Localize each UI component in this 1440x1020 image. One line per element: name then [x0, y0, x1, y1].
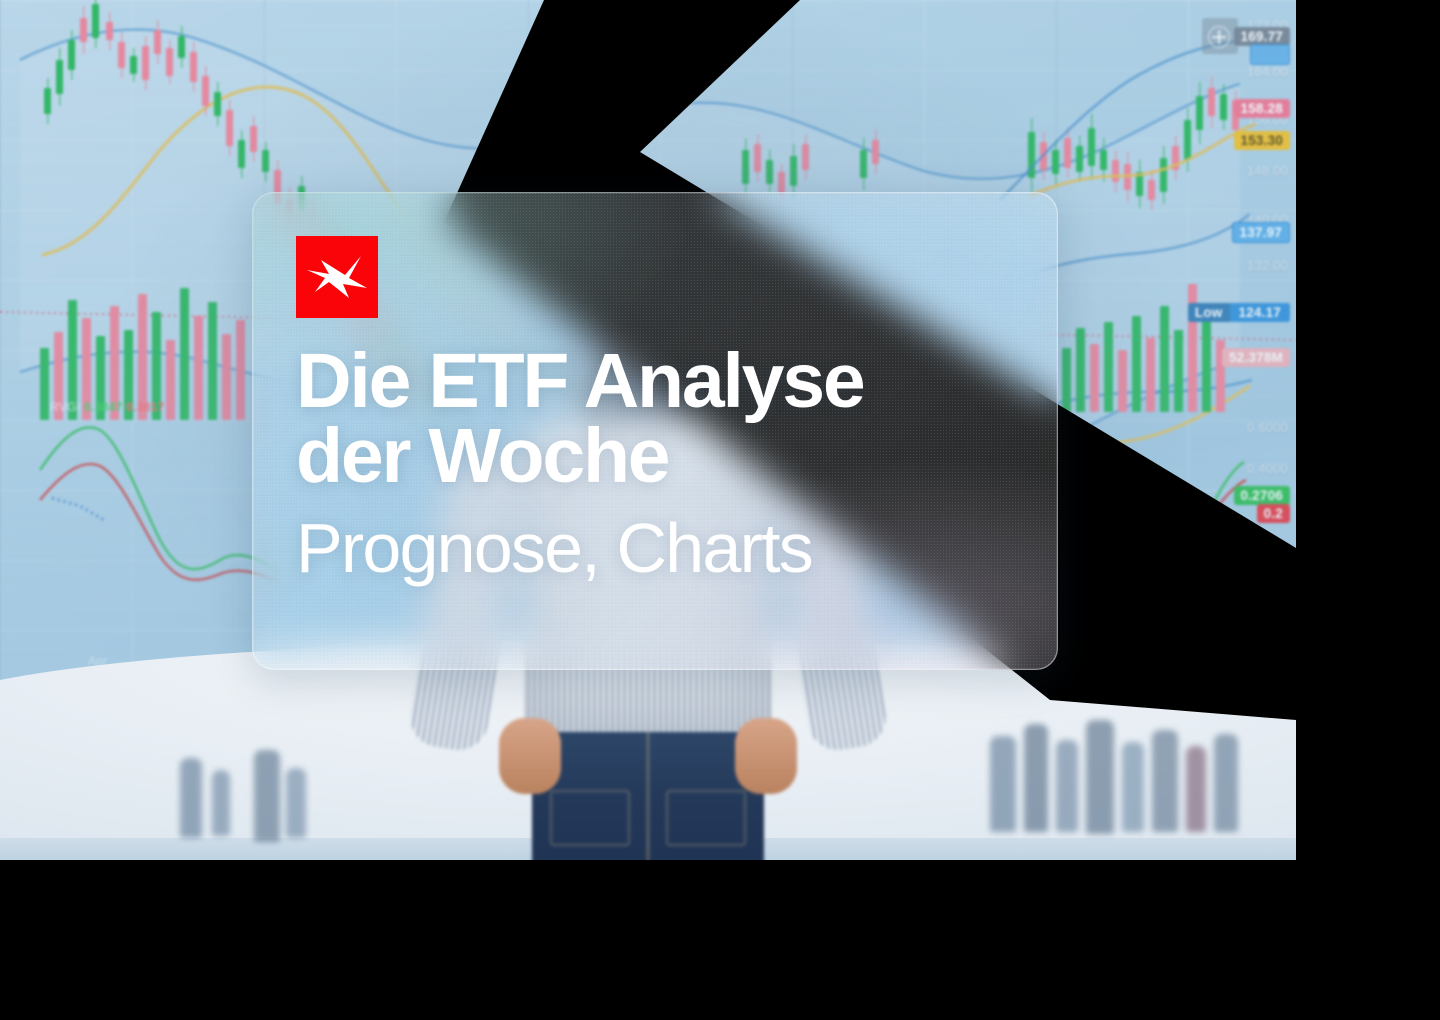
- osc-tick: 0.6000: [1247, 420, 1288, 435]
- price-label-support: 137.97: [1232, 222, 1291, 243]
- rvgi-value-green: 0.3847: [84, 400, 123, 414]
- price-label-low: Low 124.17: [1188, 303, 1290, 322]
- card-text-block: Die ETF Analyse der Woche Prognose, Char…: [296, 344, 1016, 587]
- price-label-shadow: [1250, 44, 1290, 65]
- card-title-line2: der Woche: [296, 419, 1016, 494]
- price-label-current: 169.77: [1234, 27, 1291, 46]
- osc-tick: 0.4000: [1247, 461, 1288, 476]
- pocket-right: [666, 790, 746, 846]
- volume-label: 52.378M: [1222, 348, 1290, 367]
- axis-tick: 164.00: [1247, 64, 1288, 79]
- rvgi-label: RVGI: [50, 400, 80, 414]
- crowd-right: [980, 700, 1280, 860]
- card-title-line1: Die ETF Analyse: [296, 344, 1016, 419]
- hand-left: [499, 718, 561, 794]
- axis-tick: 156.00: [1247, 112, 1288, 127]
- axis-tick: 148.00: [1247, 163, 1288, 178]
- axis-tick: 140.00: [1247, 212, 1288, 227]
- rvgi-value-red: 0.3817: [126, 400, 165, 414]
- xtb-logo-mark: [305, 254, 369, 300]
- screenshot-root: RVGI 0.3847 0.3817 172.00 164.00 156.00 …: [0, 0, 1440, 1020]
- price-label-ma: 153.30: [1234, 131, 1291, 150]
- jeans: [532, 732, 764, 860]
- axis-tick: 132.00: [1247, 258, 1288, 273]
- xtb-logo[interactable]: [296, 236, 378, 318]
- low-tag-value: 124.17: [1230, 303, 1291, 322]
- rvgi-indicator-legend: RVGI 0.3847 0.3817: [50, 400, 165, 414]
- osc-label-green: 0.2706: [1234, 486, 1291, 505]
- card-subtitle: Prognose, Charts: [296, 509, 1016, 587]
- low-tag-prefix: Low: [1188, 303, 1230, 322]
- axis-tick: 172.00: [1247, 18, 1288, 33]
- pocket-left: [550, 790, 630, 846]
- price-label-resistance: 158.28: [1234, 99, 1291, 118]
- osc-label-red: 0.2: [1257, 504, 1290, 523]
- letterbox-bottom: [0, 860, 1440, 1020]
- glass-card: Die ETF Analyse der Woche Prognose, Char…: [252, 192, 1058, 670]
- crosshair-icon[interactable]: [1208, 26, 1230, 48]
- crowd-left: [150, 740, 370, 860]
- hand-right: [735, 718, 797, 794]
- crosshair-button-bg[interactable]: [1202, 18, 1238, 54]
